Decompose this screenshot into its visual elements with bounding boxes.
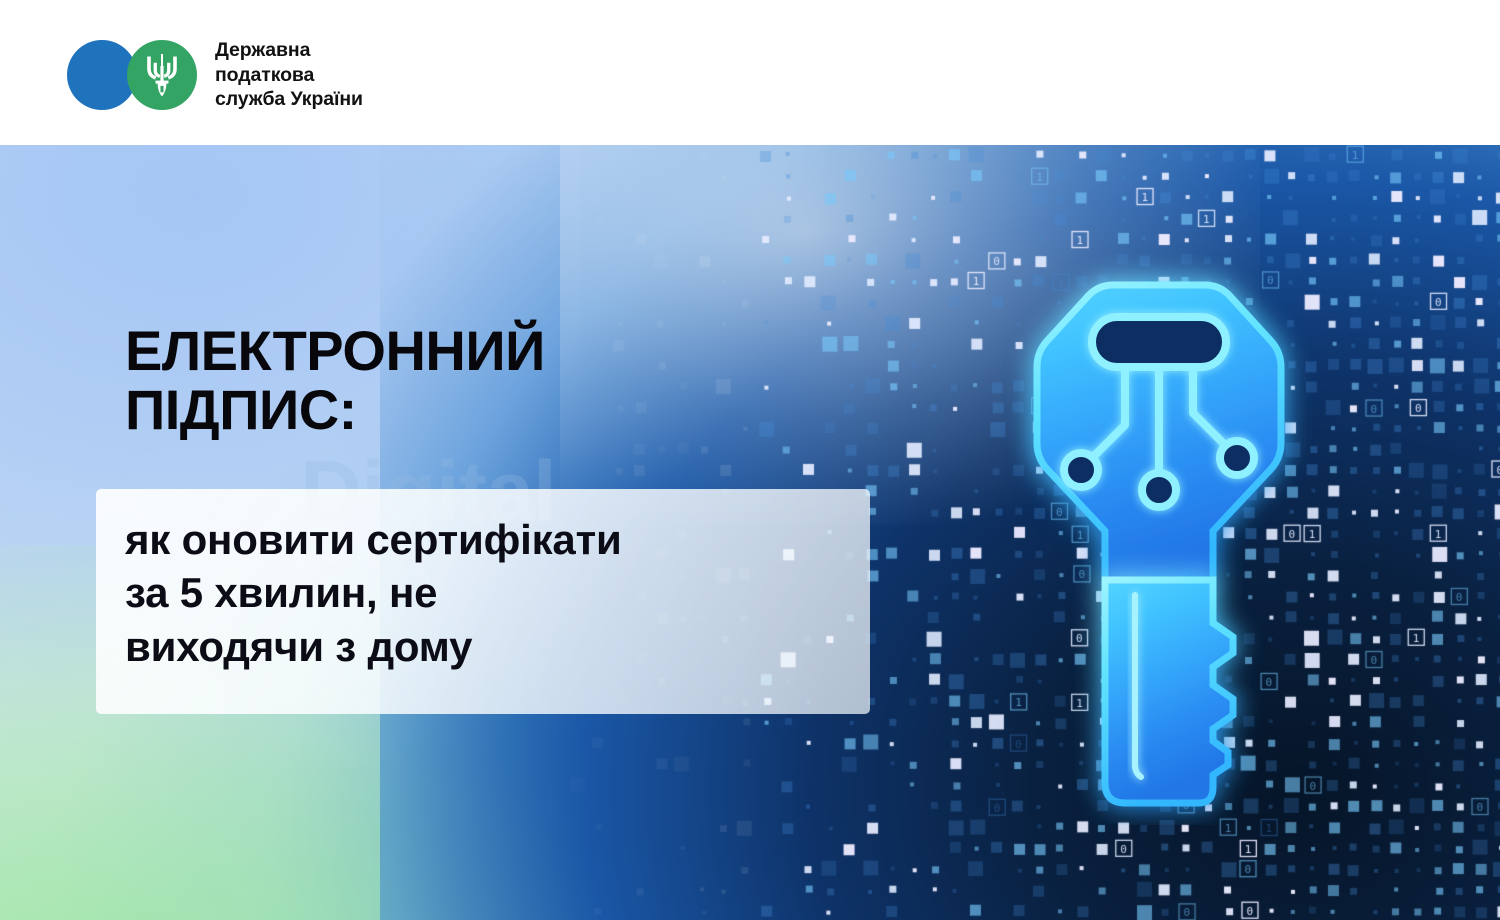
page-subtitle: як оновити сертифікати за 5 хвилин, не в… — [125, 513, 855, 673]
page-title: ЕЛЕКТРОННИЙ ПІДПИС: — [125, 321, 545, 440]
circuit-key-icon — [975, 125, 1375, 825]
ukraine-trident-icon — [127, 40, 197, 110]
poster-canvas: Державна податкова служба України Digita… — [0, 0, 1500, 920]
organization-logo: Державна податкова служба України — [67, 38, 363, 112]
header-bar: Державна податкова служба України — [0, 0, 1500, 145]
logo-marks — [67, 40, 197, 110]
organization-name: Державна податкова служба України — [215, 38, 363, 112]
